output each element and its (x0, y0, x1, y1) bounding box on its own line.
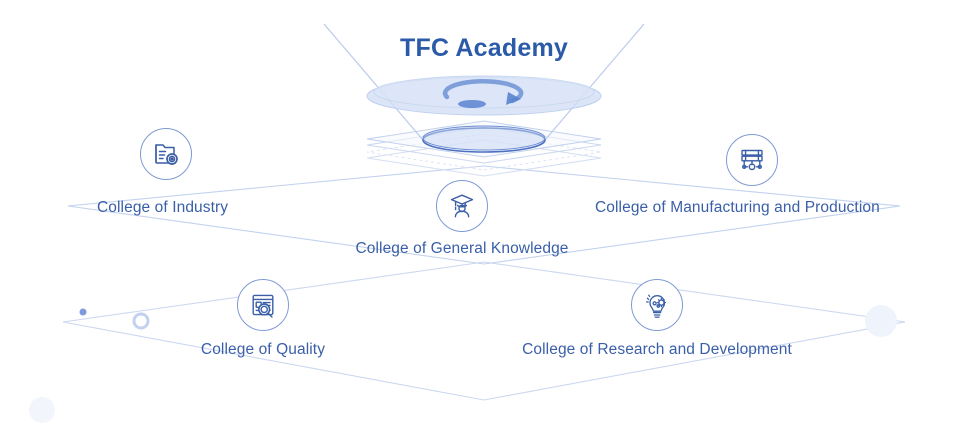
node-label-industry: College of Industry (97, 200, 228, 216)
pale-circle-left (29, 397, 55, 423)
icon-badge-industry[interactable] (140, 128, 192, 180)
dot-marker (80, 309, 87, 316)
node-label-research-development: College of Research and Development (522, 342, 792, 358)
node-label-general-knowledge: College of General Knowledge (355, 241, 568, 257)
plane-lower (63, 262, 905, 400)
diagram-canvas: TFC Academy (0, 0, 968, 430)
graduate-icon (447, 191, 477, 221)
node-label-quality: College of Quality (201, 342, 325, 358)
document-seal-icon (151, 139, 181, 169)
funnel-title: TFC Academy (400, 34, 568, 63)
icon-badge-quality[interactable] (237, 279, 289, 331)
icon-badge-general-knowledge[interactable] (436, 180, 488, 232)
lightbulb-gears-icon (642, 290, 672, 320)
document-magnifier-icon (248, 290, 278, 320)
node-label-manufacturing: College of Manufacturing and Production (595, 200, 880, 216)
server-rack-icon (737, 145, 767, 175)
icon-badge-manufacturing[interactable] (726, 134, 778, 186)
pale-circle-right (865, 305, 897, 337)
icon-badge-research-development[interactable] (631, 279, 683, 331)
